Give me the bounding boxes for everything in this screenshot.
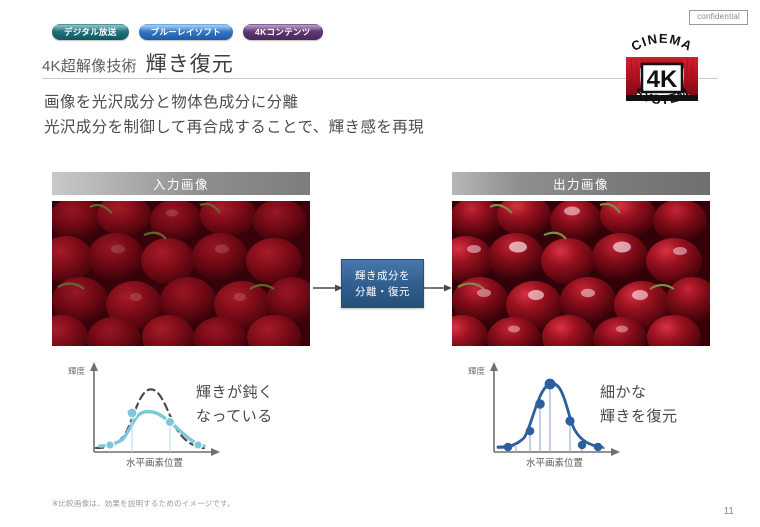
confidential-stamp: confidential bbox=[689, 10, 748, 25]
caption-right-line-1: 細かな bbox=[600, 381, 678, 405]
input-cherry-photo bbox=[52, 201, 310, 346]
flow-line-1: 輝き成分を bbox=[355, 268, 410, 284]
caption-right-line-2: 輝きを復元 bbox=[600, 405, 678, 429]
page-title: 4K超解像技術 輝き復元 bbox=[42, 48, 234, 78]
x-axis-label: 水平画素位置 bbox=[126, 457, 183, 469]
output-chart-caption: 細かな 輝きを復元 bbox=[600, 381, 678, 429]
logo-center-text: 4K bbox=[647, 66, 678, 93]
flow-arrow-right bbox=[420, 279, 452, 287]
cinema-4k-logo: 4K CINEMA SYSTEM bbox=[614, 31, 710, 113]
footnote: ※比較画像は、効果を説明するためのイメージです。 bbox=[52, 498, 235, 509]
category-tag-row: デジタル放送 ブルーレイソフト 4Kコンテンツ bbox=[52, 24, 323, 40]
output-cherry-photo bbox=[452, 201, 710, 346]
tag-label: 4Kコンテンツ bbox=[255, 26, 310, 38]
title-prefix: 4K超解像技術 bbox=[42, 55, 137, 76]
input-panel-label: 入力画像 bbox=[153, 174, 209, 193]
flow-process-box: 輝き成分を 分離・復元 bbox=[341, 259, 424, 308]
flow-arrow-left bbox=[313, 279, 343, 287]
tag-digital-broadcast[interactable]: デジタル放送 bbox=[52, 24, 129, 40]
body-line-1: 画像を光沢成分と物体色成分に分離 bbox=[44, 90, 424, 115]
input-chart-caption: 輝きが鈍く なっている bbox=[196, 381, 274, 429]
output-panel-label: 出力画像 bbox=[553, 174, 609, 193]
input-panel-header: 入力画像 bbox=[52, 172, 310, 195]
tag-label: ブルーレイソフト bbox=[151, 26, 221, 38]
title-main: 輝き復元 bbox=[146, 48, 234, 78]
y-axis-label: 輝度 bbox=[68, 366, 86, 376]
input-image-panel: 入力画像 bbox=[52, 172, 310, 346]
y-axis-label: 輝度 bbox=[468, 366, 486, 376]
x-axis-label: 水平画素位置 bbox=[526, 457, 583, 469]
tag-label: デジタル放送 bbox=[64, 26, 117, 38]
tag-bluray-software[interactable]: ブルーレイソフト bbox=[139, 24, 233, 40]
logo-top-text: CINEMA bbox=[628, 31, 695, 54]
body-text: 画像を光沢成分と物体色成分に分離 光沢成分を制御して再合成することで、輝き感を再… bbox=[44, 90, 424, 140]
output-image-panel: 出力画像 bbox=[452, 172, 710, 346]
tag-4k-contents[interactable]: 4Kコンテンツ bbox=[243, 24, 322, 40]
body-line-2: 光沢成分を制御して再合成することで、輝き感を再現 bbox=[44, 115, 424, 140]
flow-line-2: 分離・復元 bbox=[355, 284, 410, 300]
caption-left-line-1: 輝きが鈍く bbox=[196, 381, 274, 405]
caption-left-line-2: なっている bbox=[196, 405, 274, 429]
output-panel-header: 出力画像 bbox=[452, 172, 710, 195]
page-number: 11 bbox=[724, 506, 734, 517]
